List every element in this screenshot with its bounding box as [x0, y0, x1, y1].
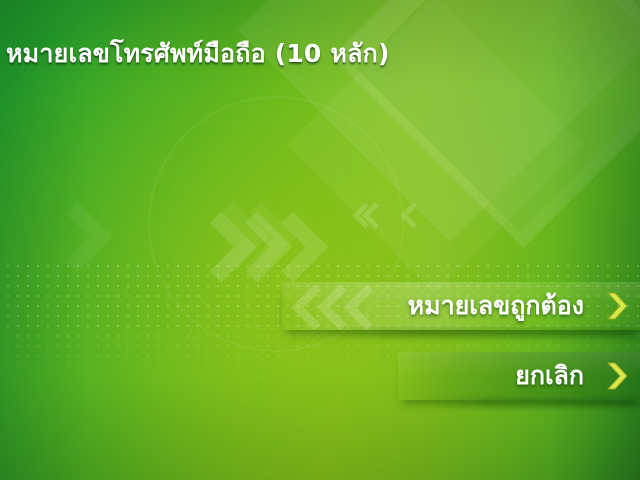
background-vignette: [0, 0, 640, 480]
page-title: หมายเลขโทรศัพท์มือถือ (10 หลัก): [6, 38, 390, 69]
chevron-right-icon: [600, 289, 634, 323]
button-chevron-decor: [288, 282, 408, 330]
atm-screen: หมายเลขโทรศัพท์มือถือ (10 หลัก) หมายเลขถ…: [0, 0, 640, 480]
cancel-button[interactable]: ยกเลิก: [398, 352, 640, 400]
chevron-right-icon: [600, 359, 634, 393]
button-drop-shadow: [424, 399, 640, 407]
confirm-number-button[interactable]: หมายเลขถูกต้อง: [282, 282, 640, 330]
button-drop-shadow: [308, 329, 640, 337]
cancel-button-label: ยกเลิก: [515, 361, 584, 391]
confirm-number-button-label: หมายเลขถูกต้อง: [408, 291, 584, 321]
